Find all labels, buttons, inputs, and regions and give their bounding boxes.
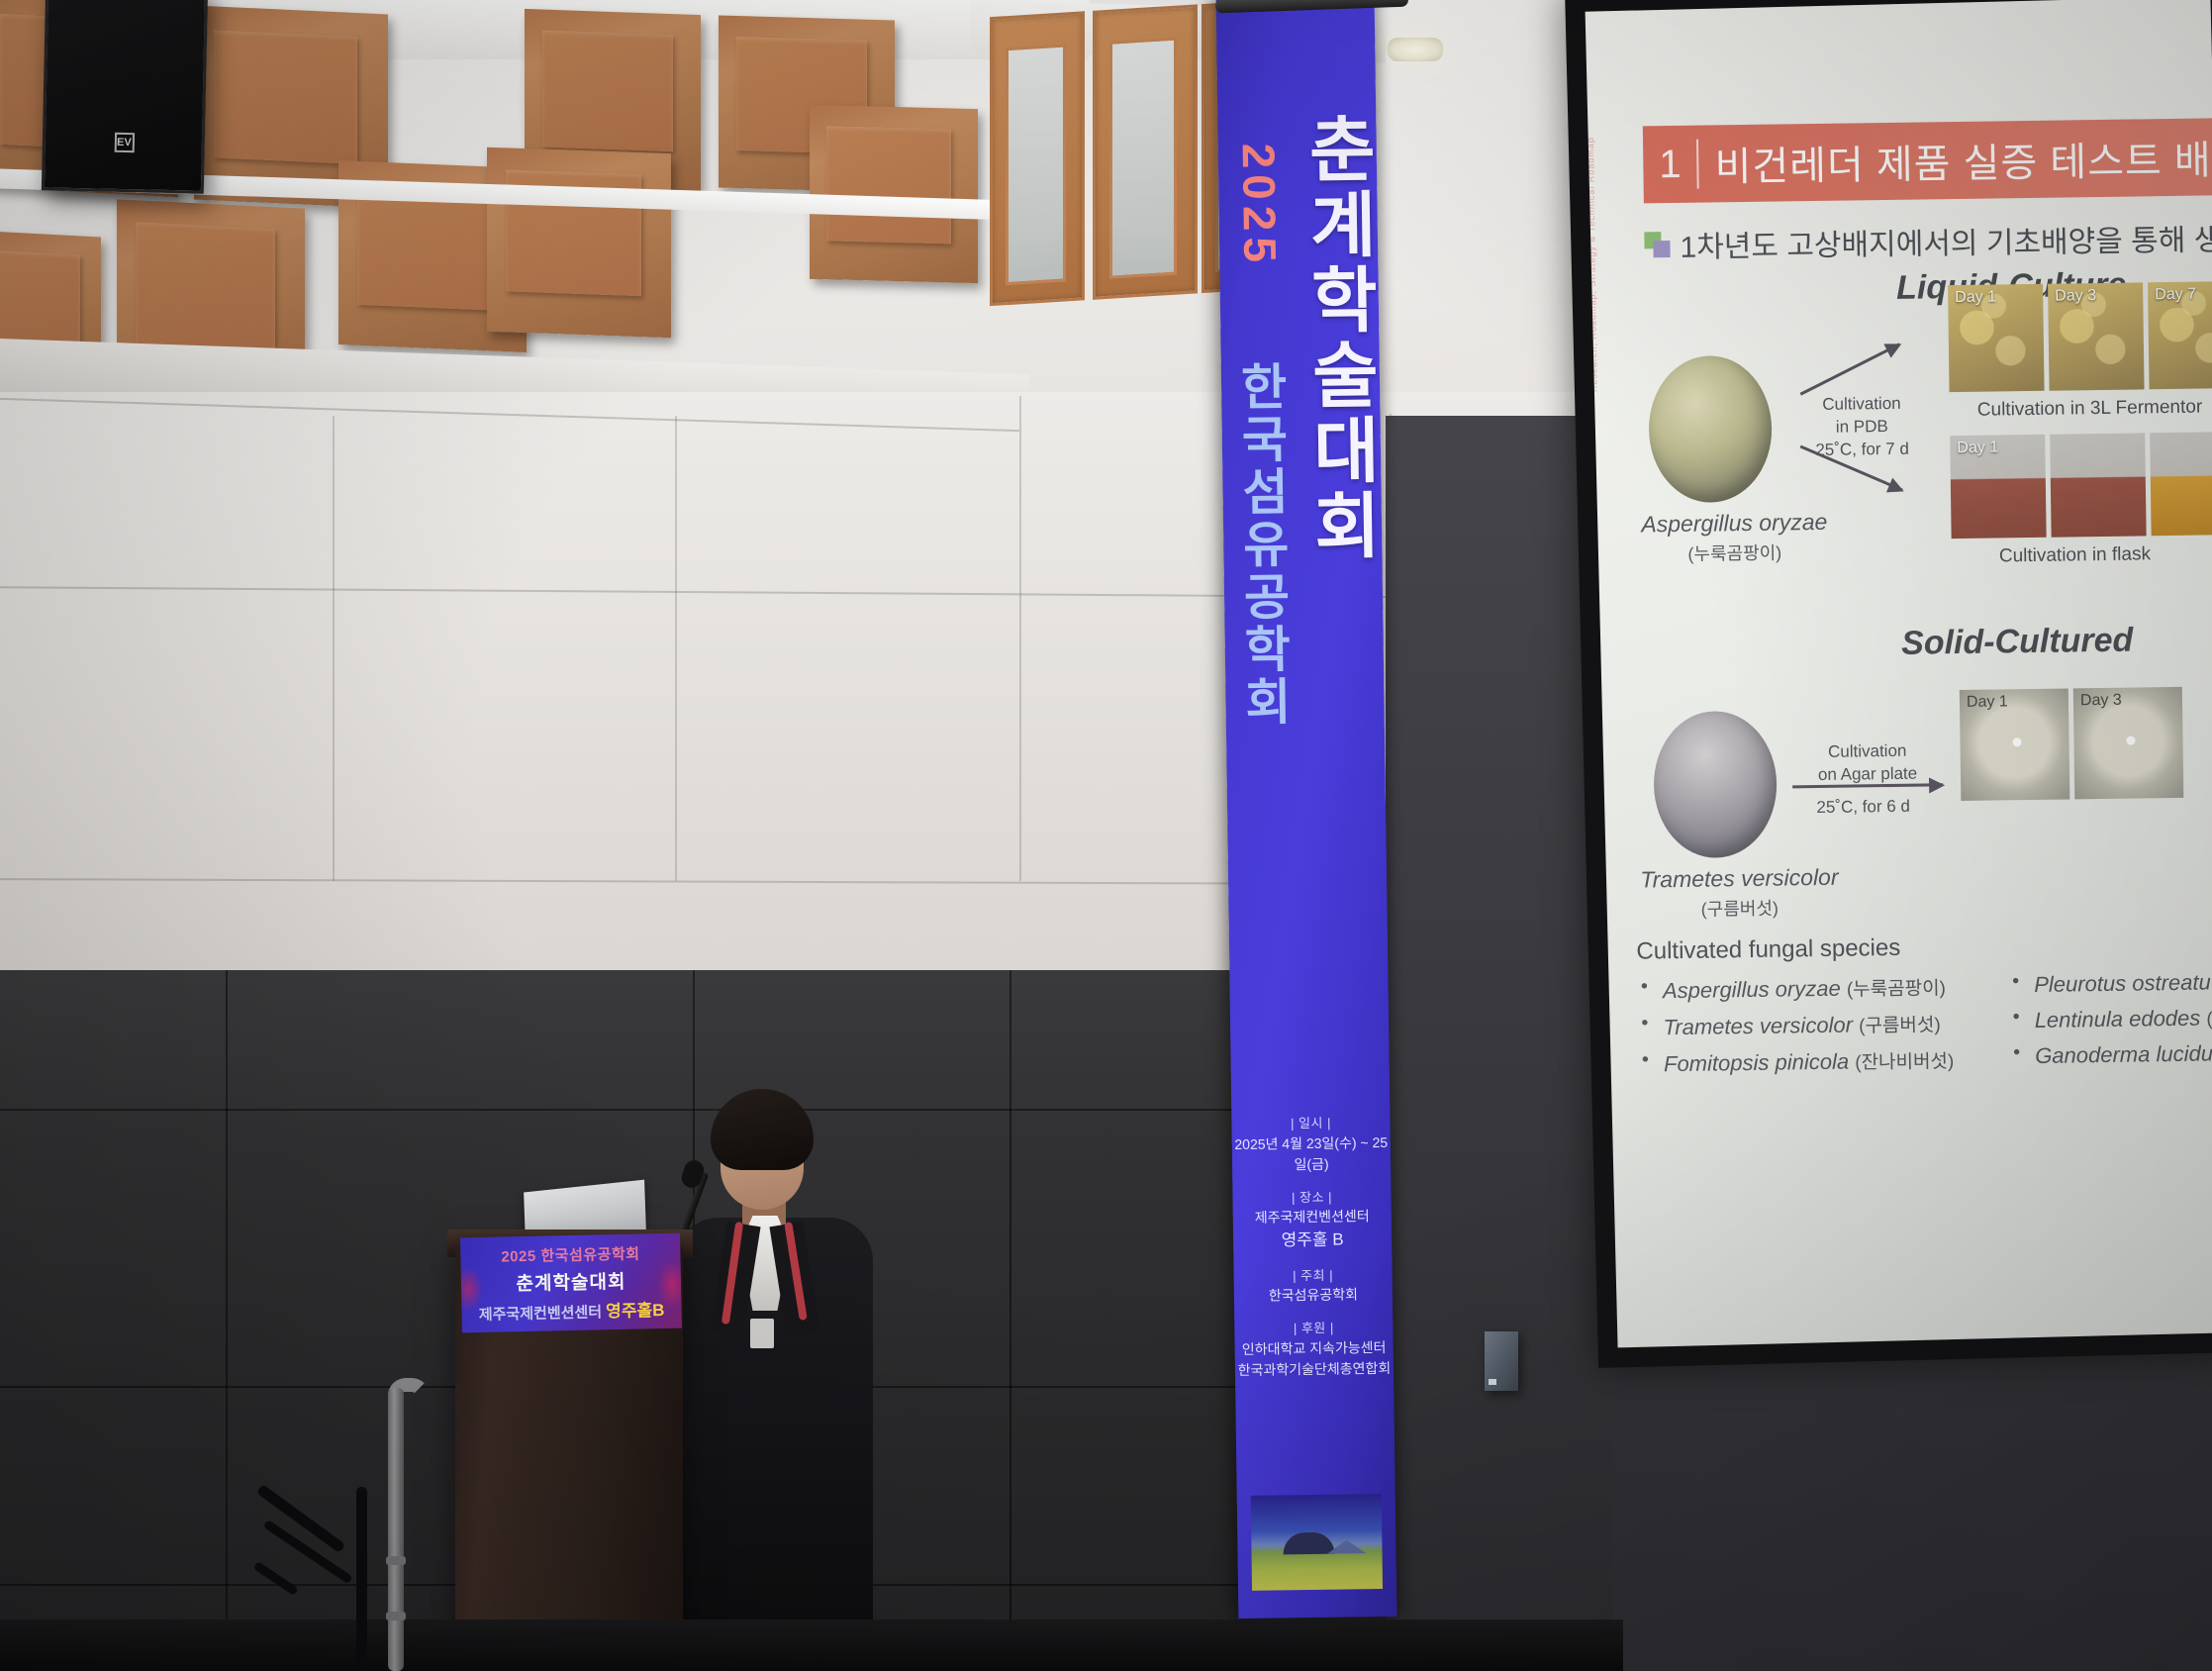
species-latin: Fomitopsis pinicola <box>1664 1049 1849 1077</box>
ev-ceiling-speaker: EV <box>42 0 208 194</box>
wood-acoustic-panel <box>487 147 671 338</box>
flask-day1-photo: Day 1 <box>1950 435 2046 539</box>
tile-seam <box>226 970 228 1671</box>
podium-sign-glow-left <box>460 1266 484 1313</box>
presenter-name-badge <box>750 1319 774 1348</box>
banner-sponsor-label: | 후원 | <box>1234 1318 1393 1339</box>
pdb-line3: 25˚C, for 7 d <box>1815 440 1909 459</box>
slide-title-divider <box>1696 140 1699 189</box>
pipe-joint <box>386 1612 406 1621</box>
trametes-versicolor-korean: (구름버섯) <box>1626 894 1854 923</box>
handrail-post <box>356 1487 367 1671</box>
arrow-to-fermentor <box>1800 343 1900 395</box>
fermentor-day3-photo: Day 3 <box>2048 282 2144 390</box>
banner-landscape-photo <box>1251 1494 1383 1591</box>
projection-screen-surface: Research, Roadmap, Strategy & Technical … <box>1586 0 2212 1347</box>
species-latin: Ganoderma lucidu <box>2035 1040 2212 1068</box>
liquid-culture-diagram: Aspergillus oryzae (누룩곰팡이) Cultivation i… <box>1599 297 2212 603</box>
vertical-pipe <box>388 1388 404 1671</box>
fermentor-caption: Cultivation in 3L Fermentor <box>1977 397 2203 422</box>
podium-sign: 2025 한국섬유공학회 춘계학술대회 제주국제컨벤션센터 영주홀B <box>460 1233 682 1333</box>
banner-hall-value: 영주홀 B <box>1233 1227 1392 1254</box>
pdb-cultivation-text: Cultivation in PDB 25˚C, for 7 d <box>1815 393 1909 462</box>
species-column-2: Pleurotus ostreatu Lentinula edodes ( Ga… <box>2008 969 2212 1082</box>
podium-sign-line2: 춘계학술대회 <box>516 1266 625 1295</box>
ev-logo-icon: EV <box>114 133 134 152</box>
banner-organization: 한국섬유공학회 <box>1235 360 1290 729</box>
fermentor-day3-label: Day 3 <box>2055 287 2096 306</box>
window-glass <box>1006 44 1066 285</box>
pdb-line2: in PDB <box>1836 417 1888 437</box>
species-latin: Lentinula edodes <box>2035 1006 2201 1032</box>
podium-sign-glow-right <box>657 1259 682 1310</box>
stair-handrail <box>259 1416 388 1671</box>
slide-title: 비건레더 제품 실증 테스트 배 <box>1714 128 2212 192</box>
fermentor-day7-photo: Day 7 <box>2148 281 2212 389</box>
flask-day1-label: Day 1 <box>1957 439 1998 457</box>
banner-date-label: | 일시 | <box>1231 1113 1390 1134</box>
fermentor-photo-strip: Day 1 Day 3 Day 7 <box>1948 281 2212 392</box>
banner-info-block: | 일시 | 2025년 4월 23일(수) ~ 25일(금) | 장소 | 제… <box>1231 1100 1394 1381</box>
species-korean: ( <box>2206 1009 2212 1030</box>
fermentor-day7-label: Day 7 <box>2155 286 2196 305</box>
species-item: Aspergillus oryzae (누룩곰팡이) <box>1637 973 1954 1004</box>
banner-sponsor-value-1: 인하대학교 지속가능센터 <box>1235 1336 1394 1359</box>
wall-seam-vertical <box>1019 396 1021 881</box>
species-heading: Cultivated fungal species <box>1636 930 2212 966</box>
agar-plate-day1-label: Day 1 <box>1967 693 2008 712</box>
species-columns: Aspergillus oryzae (누룩곰팡이) Trametes vers… <box>1637 969 2212 1088</box>
ceiling-light <box>1388 38 1443 61</box>
species-item: Fomitopsis pinicola (잔나비버섯) <box>1638 1046 1955 1077</box>
stage-floor <box>0 1620 1623 1671</box>
presenter-hair <box>711 1089 814 1170</box>
wall-control-panel[interactable] <box>1485 1331 1518 1391</box>
presentation-slide: Research, Roadmap, Strategy & Technical … <box>1586 118 2212 1137</box>
species-korean: (누룩곰팡이) <box>1847 978 1946 1000</box>
wall-seam-vertical <box>333 416 335 881</box>
aspergillus-oryzae-photo <box>1648 355 1773 504</box>
fermentor-day1-photo: Day 1 <box>1948 284 2044 392</box>
wall-seam-vertical <box>675 416 677 881</box>
banner-host-value: 한국섬유공학회 <box>1234 1284 1393 1307</box>
agar-temp-text: 25˚C, for 6 d <box>1816 796 1910 820</box>
slide-subtitle-row: 1차년도 고상배지에서의 기초배양을 통해 생장 <box>1644 215 2212 267</box>
arrow-to-agar-plate <box>1792 783 1943 788</box>
fermentor-day1-label: Day 1 <box>1955 288 1996 307</box>
banner-year: 2025 <box>1236 143 1284 268</box>
handrail-base <box>252 1561 298 1596</box>
agar-cultivation-text: Cultivation Cultivation on Agar plate on… <box>1817 740 1917 787</box>
banner-date-value: 2025년 4월 23일(수) ~ 25일(금) <box>1232 1131 1392 1175</box>
conference-banner: 춘계학술대회 2025 한국섬유공학회 | 일시 | 2025년 4월 23일(… <box>1216 0 1397 1619</box>
species-column-1: Aspergillus oryzae (누룩곰팡이) Trametes vers… <box>1637 973 1955 1087</box>
species-item: Trametes versicolor (구름버섯) <box>1637 1010 1954 1040</box>
agar-plate-photo-strip: Day 1 Day 3 <box>1960 687 2184 801</box>
banner-photo-hill <box>1283 1532 1334 1555</box>
flask-day7-photo <box>2150 432 2212 536</box>
podium-sign-line1: 2025 한국섬유공학회 <box>501 1242 640 1266</box>
window-glass <box>1109 37 1177 278</box>
podium-sign-venue: 제주국제컨벤션센터 <box>479 1304 607 1324</box>
banner-sponsor-value-2: 한국과학기술단체총연합회 <box>1235 1357 1394 1380</box>
species-item: Pleurotus ostreatu <box>2008 969 2212 998</box>
flask-photo-strip: Day 1 <box>1950 432 2212 539</box>
banner-title: 춘계학술대회 <box>1298 112 1376 564</box>
species-item: Ganoderma lucidu <box>2009 1040 2212 1069</box>
trametes-versicolor-name: Trametes versicolor <box>1625 864 1853 894</box>
flask-caption: Cultivation in flask <box>1999 543 2151 567</box>
species-latin: Pleurotus ostreatu <box>2034 969 2211 996</box>
species-korean: (잔나비버섯) <box>1855 1051 1954 1073</box>
pipe-joint <box>386 1556 406 1565</box>
projection-screen-frame: Research, Roadmap, Strategy & Technical … <box>1565 0 2212 1368</box>
agar-line2b: on Agar plate <box>1818 764 1917 784</box>
bullet-square-icon <box>1644 232 1670 257</box>
podium-sign-hall: 영주홀B <box>606 1301 665 1321</box>
pdb-line1: Cultivation <box>1822 394 1901 414</box>
slide-side-tag: Research, Roadmap, Strategy & Technical … <box>1586 137 1599 392</box>
species-korean: (구름버섯) <box>1859 1015 1941 1036</box>
aspergillus-oryzae-korean: (누룩곰팡이) <box>1621 539 1849 567</box>
species-item: Lentinula edodes ( <box>2009 1005 2212 1033</box>
agar-plate-day3-label: Day 3 <box>2080 692 2122 711</box>
banner-venue-value: 제주국제컨벤션센터 <box>1233 1206 1392 1229</box>
window-pane <box>990 11 1085 306</box>
slide-title-bar: 1 비건레더 제품 실증 테스트 배 <box>1643 118 2212 204</box>
species-latin: Aspergillus oryzae <box>1663 976 1841 1004</box>
flask-day3-photo <box>2050 433 2146 537</box>
agar-line1: Cultivation <box>1828 741 1907 761</box>
aspergillus-oryzae-name: Aspergillus oryzae <box>1620 509 1848 539</box>
banner-venue-label: | 장소 | <box>1232 1186 1391 1208</box>
trametes-versicolor-photo <box>1653 711 1778 859</box>
agar-plate-day3-photo: Day 3 <box>2073 687 2184 800</box>
agar-plate-day1-photo: Day 1 <box>1960 688 2070 801</box>
species-latin: Trametes versicolor <box>1663 1013 1853 1040</box>
solid-culture-diagram: Trametes versicolor (구름버섯) Cultivation C… <box>1604 652 2212 899</box>
slide-section-number: 1 <box>1659 142 1682 186</box>
conference-photo-scene: EV Research, Roadmap, Strategy & Technic… <box>0 0 2212 1671</box>
podium-sign-line3: 제주국제컨벤션센터 영주홀B <box>479 1296 665 1325</box>
window-pane <box>1093 4 1198 299</box>
banner-host-label: | 주최 | <box>1233 1264 1392 1286</box>
tile-seam <box>1010 970 1011 1671</box>
cultivated-species-block: Cultivated fungal species Aspergillus or… <box>1636 930 2212 1088</box>
slide-subtitle: 1차년도 고상배지에서의 기초배양을 통해 생장 <box>1680 215 2212 266</box>
